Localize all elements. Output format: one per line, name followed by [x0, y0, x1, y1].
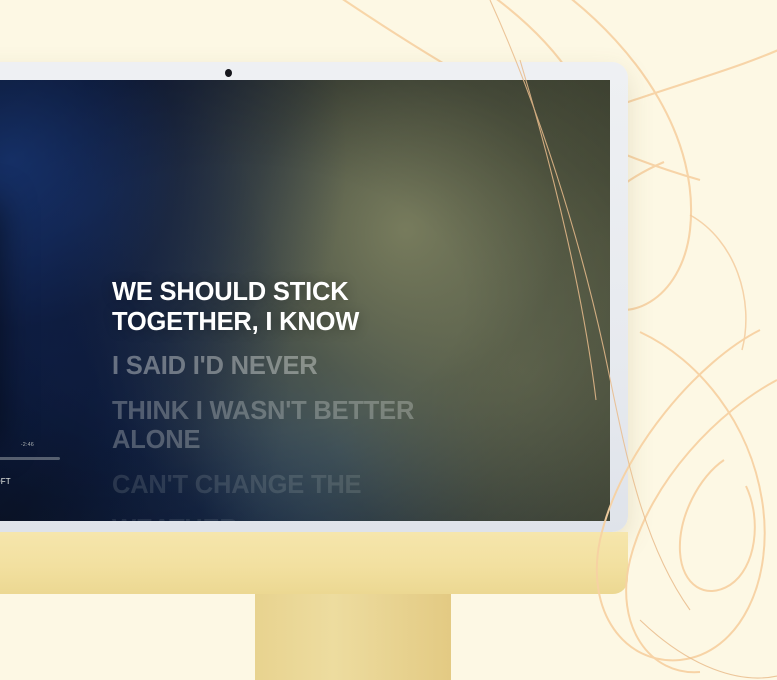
camera-icon	[225, 69, 232, 77]
lyric-line-upcoming[interactable]: I SAID I'D NEVER	[112, 352, 442, 382]
imac-device: Dolby Atmos -2:46 BIRDS OF A FEATHER e E…	[0, 62, 628, 532]
now-playing-meta-row: Dolby Atmos -2:46	[0, 442, 60, 455]
imac-bezel-top	[0, 62, 628, 80]
imac-chin	[0, 532, 628, 594]
track-artist-album: e Eilish — HIT ME HARD AND SOFT	[0, 477, 60, 486]
imac-screen: Dolby Atmos -2:46 BIRDS OF A FEATHER e E…	[0, 80, 610, 521]
lyric-line-upcoming[interactable]: CAN'T CHANGE THE	[112, 471, 442, 501]
progress-scrubber[interactable]	[0, 457, 60, 460]
time-remaining-label: -2:46	[21, 442, 34, 448]
lyric-line-active[interactable]: WE SHOULD STICK TOGETHER, I KNOW	[112, 278, 442, 337]
now-playing-bar: Dolby Atmos -2:46 BIRDS OF A FEATHER e E…	[0, 442, 60, 486]
track-title: BIRDS OF A FEATHER	[0, 466, 60, 475]
lyric-line-upcoming[interactable]: THINK I WASN'T BETTER ALONE	[112, 397, 442, 456]
lyric-line-upcoming[interactable]: WEATHER	[112, 515, 442, 521]
lyrics-panel[interactable]: WE SHOULD STICK TOGETHER, I KNOW I SAID …	[112, 278, 442, 521]
scene: Dolby Atmos -2:46 BIRDS OF A FEATHER e E…	[0, 0, 777, 680]
